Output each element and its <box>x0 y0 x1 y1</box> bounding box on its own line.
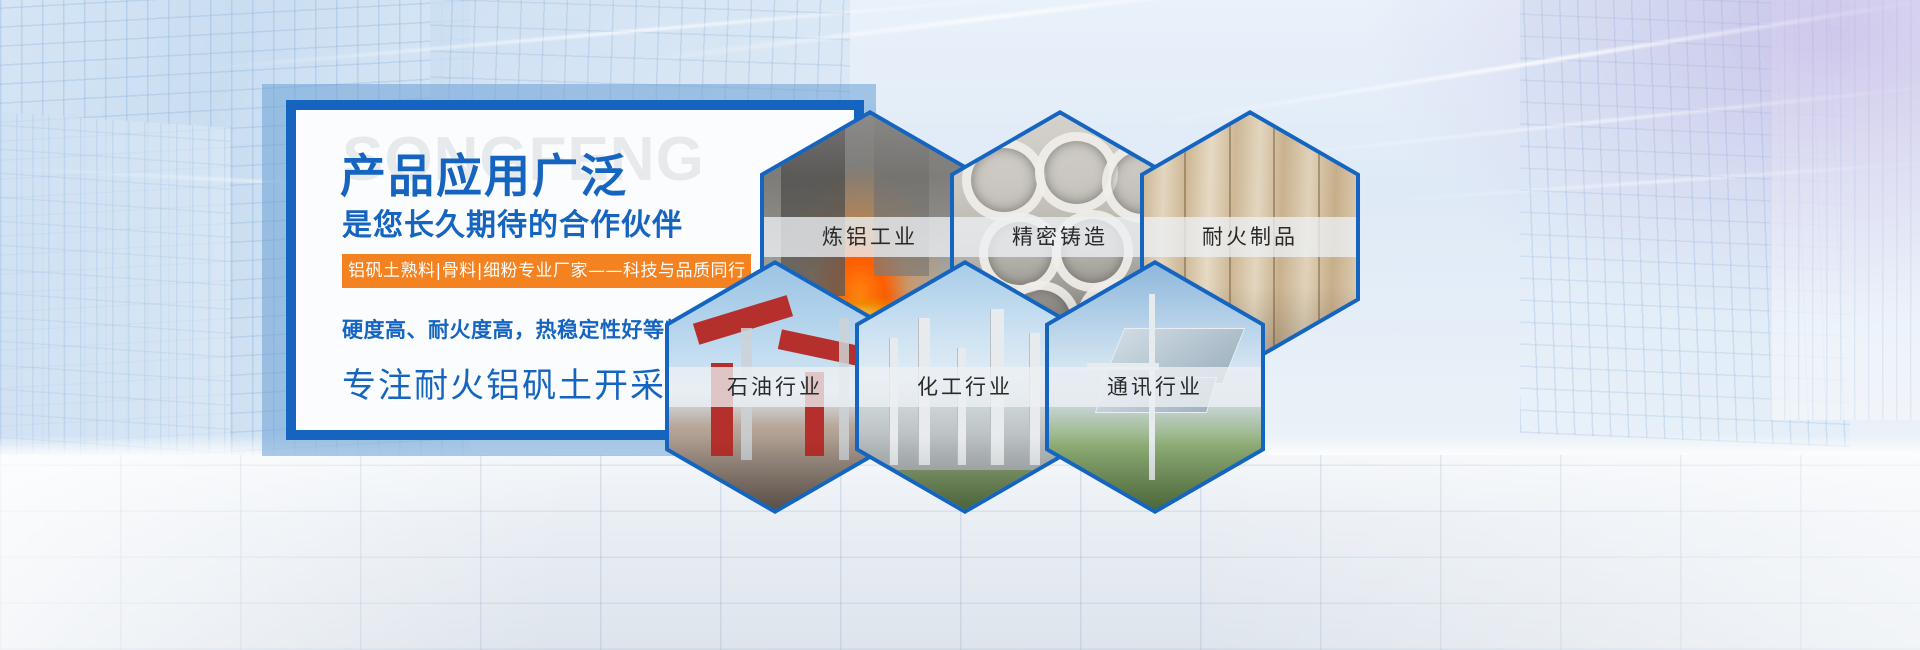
industry-hexagon-grid: 炼铝工业 精密铸造 <box>660 70 1760 590</box>
hexagon-label: 通讯行业 <box>1049 367 1261 407</box>
hexagon-label: 石油行业 <box>669 367 881 407</box>
banner-feature-text: 硬度高、耐火度高，热稳定性好等特性 <box>342 314 708 344</box>
hexagon-label: 耐火制品 <box>1144 217 1356 257</box>
hexagon-label: 精密铸造 <box>954 217 1166 257</box>
banner-subheadline: 是您长久期待的合作伙伴 <box>342 200 683 244</box>
banner-headline: 产品应用广泛 <box>340 140 628 206</box>
hexagon-label: 化工行业 <box>859 367 1071 407</box>
hexagon-label: 炼铝工业 <box>764 217 976 257</box>
promo-banner: SONGFENG 产品应用广泛 是您长久期待的合作伙伴 铝矾土熟料|骨料|细粉专… <box>0 0 1920 650</box>
